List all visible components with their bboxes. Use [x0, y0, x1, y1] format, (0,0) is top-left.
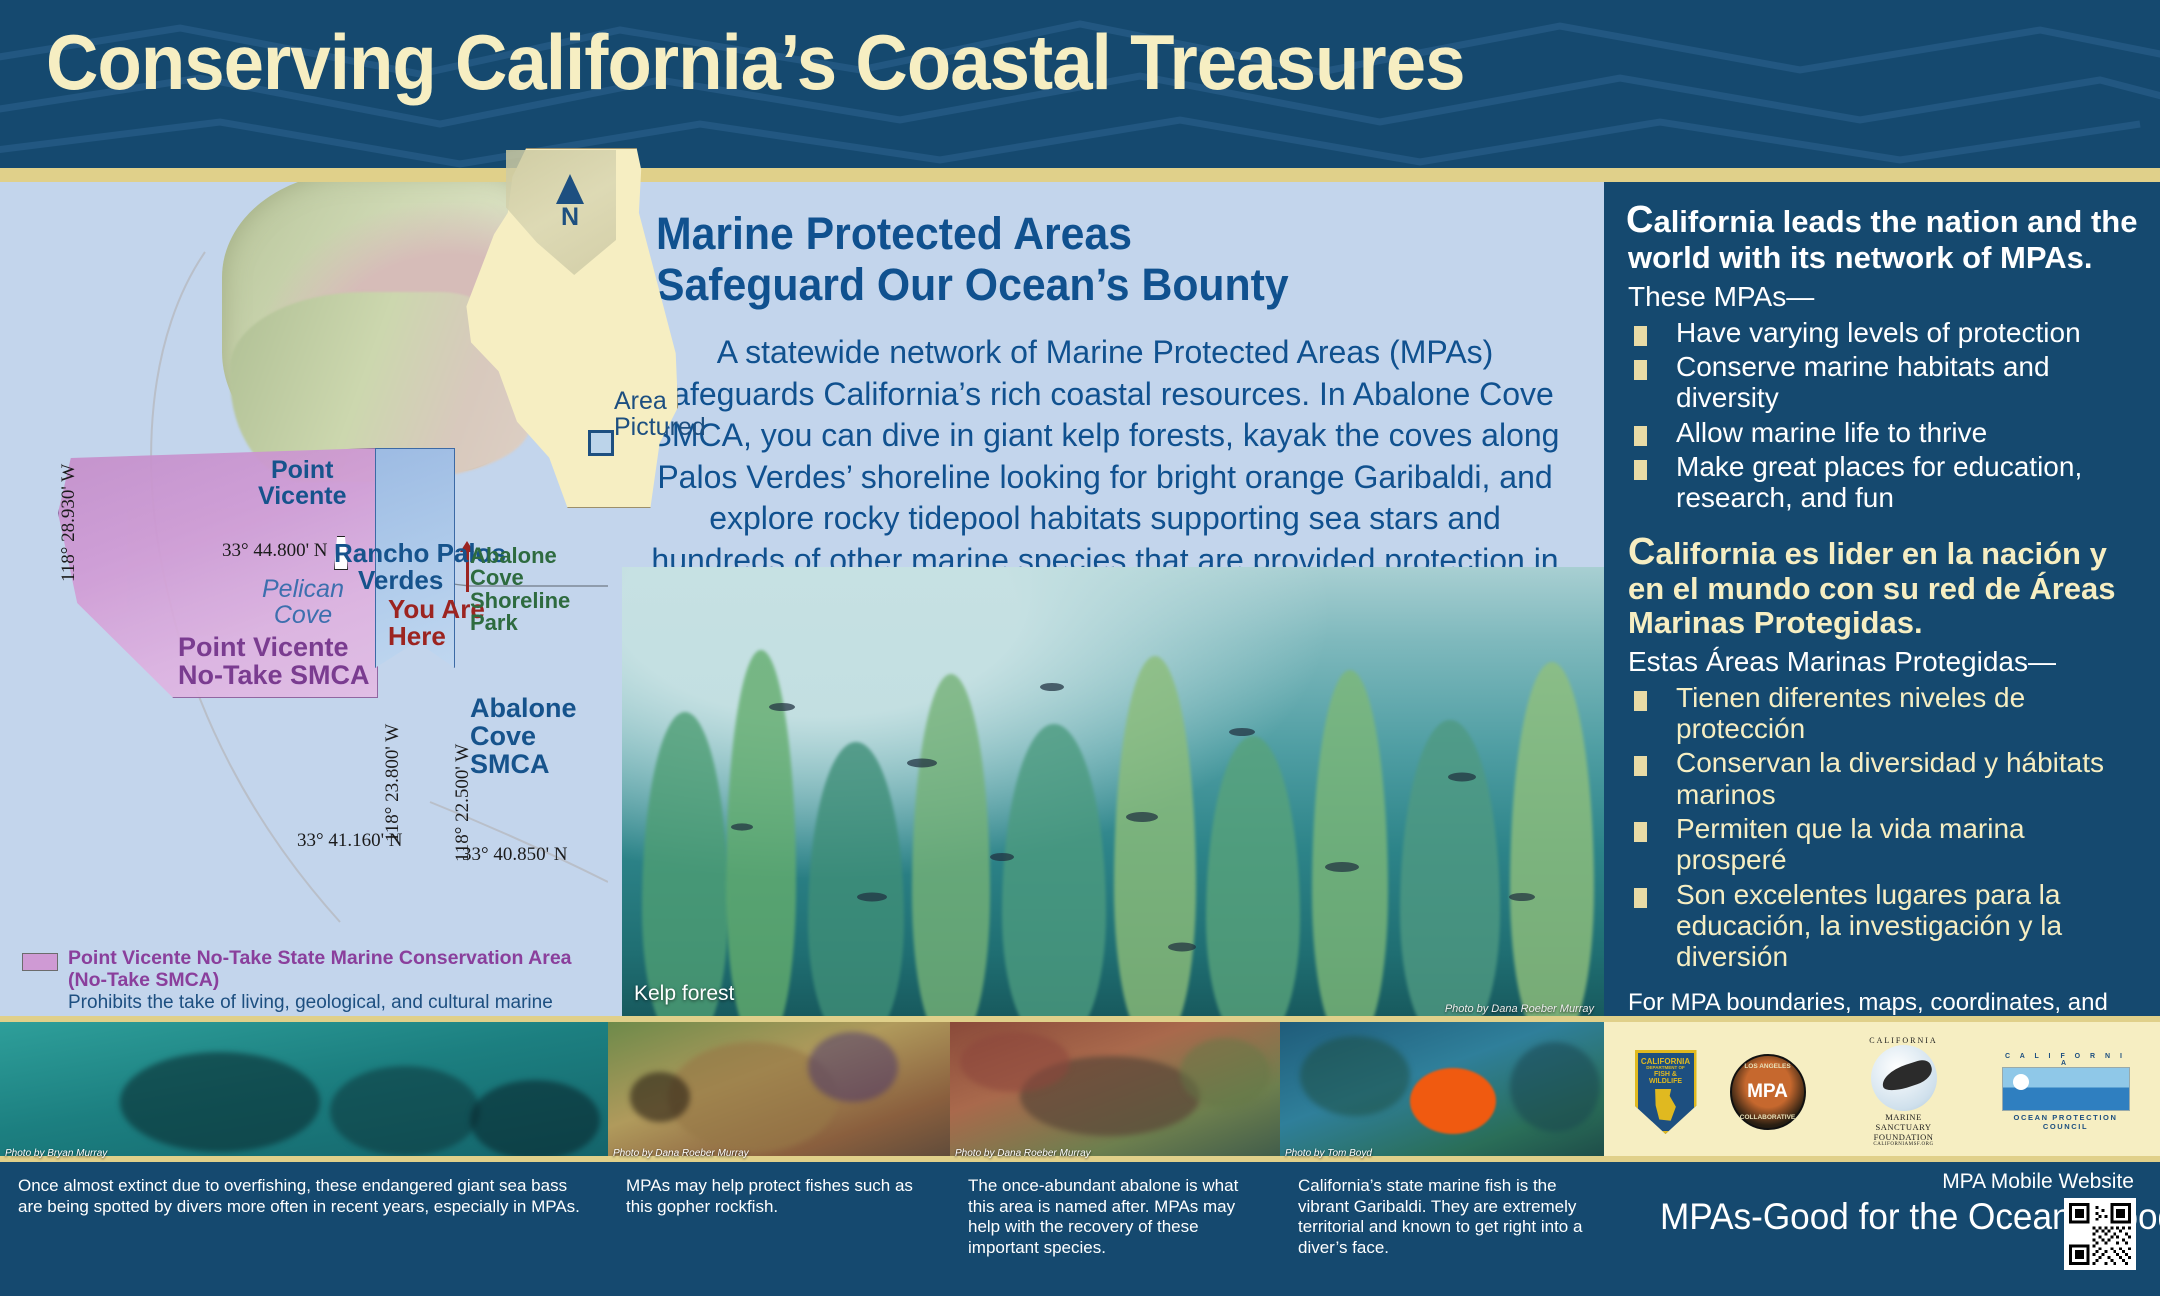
logo-center-text: MPA [1747, 1081, 1788, 1103]
center-heading-line1: Marine Protected Areas [656, 208, 1132, 259]
page-header: Conserving California’s Coastal Treasure… [0, 0, 2160, 168]
kelp-photo-caption: Kelp forest [634, 982, 734, 1006]
ocean-protection-council-icon: C A L I F O R N I A OCEAN PROTECTION COU… [2002, 1053, 2130, 1131]
area-pictured-label: AreaPictured [614, 388, 706, 441]
whale-breach-graphic [1871, 1045, 1937, 1111]
california-bear-icon [1653, 1089, 1679, 1121]
sidebar-heading-english: California leads the nation and the worl… [1628, 200, 2138, 274]
logo-california-fish-and-wildlife: CALIFORNIA DEPARTMENT OF FISH & WILDLIFE [1635, 1050, 1697, 1134]
north-compass: N [556, 174, 584, 230]
shield-icon: CALIFORNIA DEPARTMENT OF FISH & WILDLIFE [1635, 1050, 1697, 1134]
mobile-website-label: MPA Mobile Website [1942, 1170, 2134, 1194]
sidebar-bullets-spanish: Tienen diferentes niveles de protección … [1628, 682, 2138, 973]
kelp-forest-photo: Kelp forest Photo by Dana Roeber Murray [622, 567, 1604, 1022]
whale-icon: CALIFORNIA MARINE SANCTUARY FOUNDATION C… [1839, 1036, 1969, 1148]
map-coordinate-west-2: 118° 23.800' W [382, 724, 404, 842]
qr-code[interactable] [2064, 1198, 2136, 1270]
list-item: Have varying levels of protection [1628, 317, 2138, 348]
caption-columns: Once almost extinct due to overfishing, … [0, 1166, 1604, 1259]
map-label-point-vicente-smca: Point VicenteNo-Take SMCA [178, 634, 370, 690]
center-heading: Marine Protected Areas Safeguard Our Oce… [656, 208, 1289, 311]
legend-swatch-purple [22, 953, 58, 971]
legend-title: Point Vicente No-Take State Marine Conse… [68, 948, 608, 992]
partner-logo-band: CALIFORNIA DEPARTMENT OF FISH & WILDLIFE… [1604, 1022, 2160, 1162]
photo-credit: Photo by Dana Roeber Murray [955, 1148, 1091, 1159]
logo-bottom-text: OCEAN PROTECTION COUNCIL [2002, 1113, 2130, 1131]
page-title: Conserving California’s Coastal Treasure… [46, 22, 1465, 104]
map-label-point-vicente: PointVicente [258, 458, 346, 509]
map-legend: Point Vicente No-Take State Marine Conse… [22, 948, 608, 1022]
dropcap-en: C [1626, 199, 1653, 241]
sidebar-bullets-english: Have varying levels of protection Conser… [1628, 317, 2138, 514]
legend-item-point-vicente: Point Vicente No-Take State Marine Conse… [22, 948, 608, 1022]
dropcap-es: C [1628, 531, 1655, 573]
logo-california-ocean-protection-council: C A L I F O R N I A OCEAN PROTECTION COU… [2002, 1053, 2130, 1131]
center-heading-line2: Safeguard Our Ocean’s Bounty [656, 259, 1289, 310]
sidebar-heading-spanish-rest: alifornia es lider en la nación y en el … [1628, 536, 2116, 640]
header-gold-rule [0, 168, 2160, 182]
caption-bar: Once almost extinct due to overfishing, … [0, 1162, 2160, 1296]
list-item: Conserve marine habitats and diversity [1628, 351, 2138, 414]
list-item: Allow marine life to thrive [1628, 417, 2138, 448]
kelp-fish-silhouettes [622, 567, 1604, 1022]
map-coordinate-west-3: 118° 22.500' W [452, 744, 474, 862]
photo-giant-sea-bass: Photo by Bryan Murray [0, 1022, 608, 1162]
mpa-badge-icon: LOS ANGELES MPA COLLABORATIVE [1730, 1054, 1806, 1130]
area-pictured-marker-icon [588, 430, 614, 456]
compass-north-label: N [556, 205, 584, 230]
caption-abalone: The once-abundant abalone is what this a… [950, 1166, 1280, 1259]
photo-credit: Photo by Tom Boyd [1285, 1148, 1372, 1159]
info-sidebar: California leads the nation and the worl… [1604, 182, 2160, 1022]
caption-giant-sea-bass: Once almost extinct due to overfishing, … [0, 1166, 608, 1259]
sidebar-heading-english-rest: alifornia leads the nation and the world… [1628, 204, 2137, 275]
kelp-photo-credit: Photo by Dana Roeber Murray [1445, 1003, 1594, 1015]
map-coordinate-north-1: 33° 44.800' N [222, 540, 328, 562]
list-item: Tienen diferentes niveles de protección [1628, 682, 2138, 745]
list-item: Permiten que la vida marina prosperé [1628, 813, 2138, 876]
caption-garibaldi: California’s state marine fish is the vi… [1280, 1166, 1604, 1259]
sidebar-heading-spanish: California es lider en la nación y en el… [1628, 532, 2138, 639]
photo-credit: Photo by Dana Roeber Murray [613, 1148, 749, 1159]
center-content-panel: Marine Protected Areas Safeguard Our Oce… [608, 182, 1604, 1022]
logo-los-angeles-mpa-collaborative: LOS ANGELES MPA COLLABORATIVE [1730, 1054, 1806, 1130]
map-label-abalone-cove-shoreline-park: Abalone CoveShoreline Park [470, 545, 608, 635]
photo-gopher-rockfish: Photo by Dana Roeber Murray [608, 1022, 950, 1162]
list-item: Make great places for education, researc… [1628, 451, 2138, 514]
ocean-scene-graphic [2002, 1067, 2130, 1111]
photo-garibaldi: Photo by Tom Boyd [1280, 1022, 1604, 1162]
logo-top-text: C A L I F O R N I A [2002, 1053, 2130, 1067]
photo-abalone: Photo by Dana Roeber Murray [950, 1022, 1280, 1162]
list-item: Son excelentes lugares para la educación… [1628, 879, 2138, 973]
logo-line3: FOUNDATION [1839, 1133, 1969, 1143]
photo-thumbnail-row: Photo by Bryan Murray Photo by Dana Roeb… [0, 1022, 1604, 1162]
photo-credit: Photo by Bryan Murray [5, 1148, 107, 1159]
map-label-abalone-cove-smca: AbaloneCoveSMCA [470, 695, 577, 778]
caption-gopher-rockfish: MPAs may help protect fishes such as thi… [608, 1166, 950, 1259]
map-coordinate-north-3: 33° 40.850' N [462, 844, 568, 866]
list-item: Conservan la diversidad y hábitats marin… [1628, 747, 2138, 810]
compass-arrow-icon [556, 174, 584, 204]
logo-line4: CALIFORNIAMSF.ORG [1839, 1142, 1969, 1148]
logo-top-text: LOS ANGELES [1732, 1063, 1804, 1070]
map-coordinate-west-1: 118° 28.930' W [58, 464, 80, 582]
sidebar-subheading-spanish: Estas Áreas Marinas Protegidas— [1628, 647, 2138, 678]
logo-line3: FISH & WILDLIFE [1638, 1071, 1694, 1086]
logo-arc-text: CALIFORNIA [1839, 1036, 1969, 1045]
logo-california-marine-sanctuary-foundation: CALIFORNIA MARINE SANCTUARY FOUNDATION C… [1839, 1036, 1969, 1148]
map-label-pelican-cove: PelicanCove [262, 577, 344, 628]
logo-bottom-text: COLLABORATIVE [1732, 1114, 1804, 1121]
sidebar-subheading-english: These MPAs— [1628, 282, 2138, 313]
